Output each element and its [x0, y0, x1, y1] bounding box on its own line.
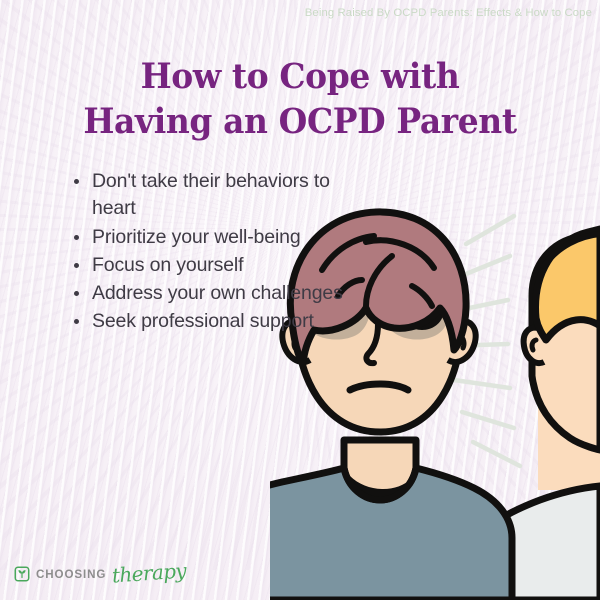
- list-item: Focus on yourself: [70, 252, 370, 279]
- page-title-line-2: Having an OCPD Parent: [18, 100, 582, 145]
- page-title-line-1: How to Cope with: [18, 55, 582, 100]
- leaf-badge-icon: [14, 566, 30, 582]
- logo-word-therapy: therapy: [112, 558, 188, 587]
- list-item: Prioritize your well-being: [70, 224, 370, 251]
- infographic-card: Being Raised By OCPD Parents: Effects & …: [0, 0, 600, 600]
- list-item: Address your own challenges: [70, 280, 370, 307]
- article-header-bar: Being Raised By OCPD Parents: Effects & …: [0, 0, 600, 26]
- article-header-title: Being Raised By OCPD Parents: Effects & …: [305, 7, 592, 19]
- page-title: How to Cope with Having an OCPD Parent: [18, 55, 582, 145]
- coping-tips-list: Don't take their behaviors to heart Prio…: [70, 168, 370, 337]
- logo-word-choosing: CHOOSING: [36, 568, 106, 581]
- list-item: Don't take their behaviors to heart: [70, 168, 370, 223]
- choosing-therapy-logo[interactable]: CHOOSING therapy: [14, 562, 186, 586]
- list-item: Seek professional support: [70, 308, 370, 335]
